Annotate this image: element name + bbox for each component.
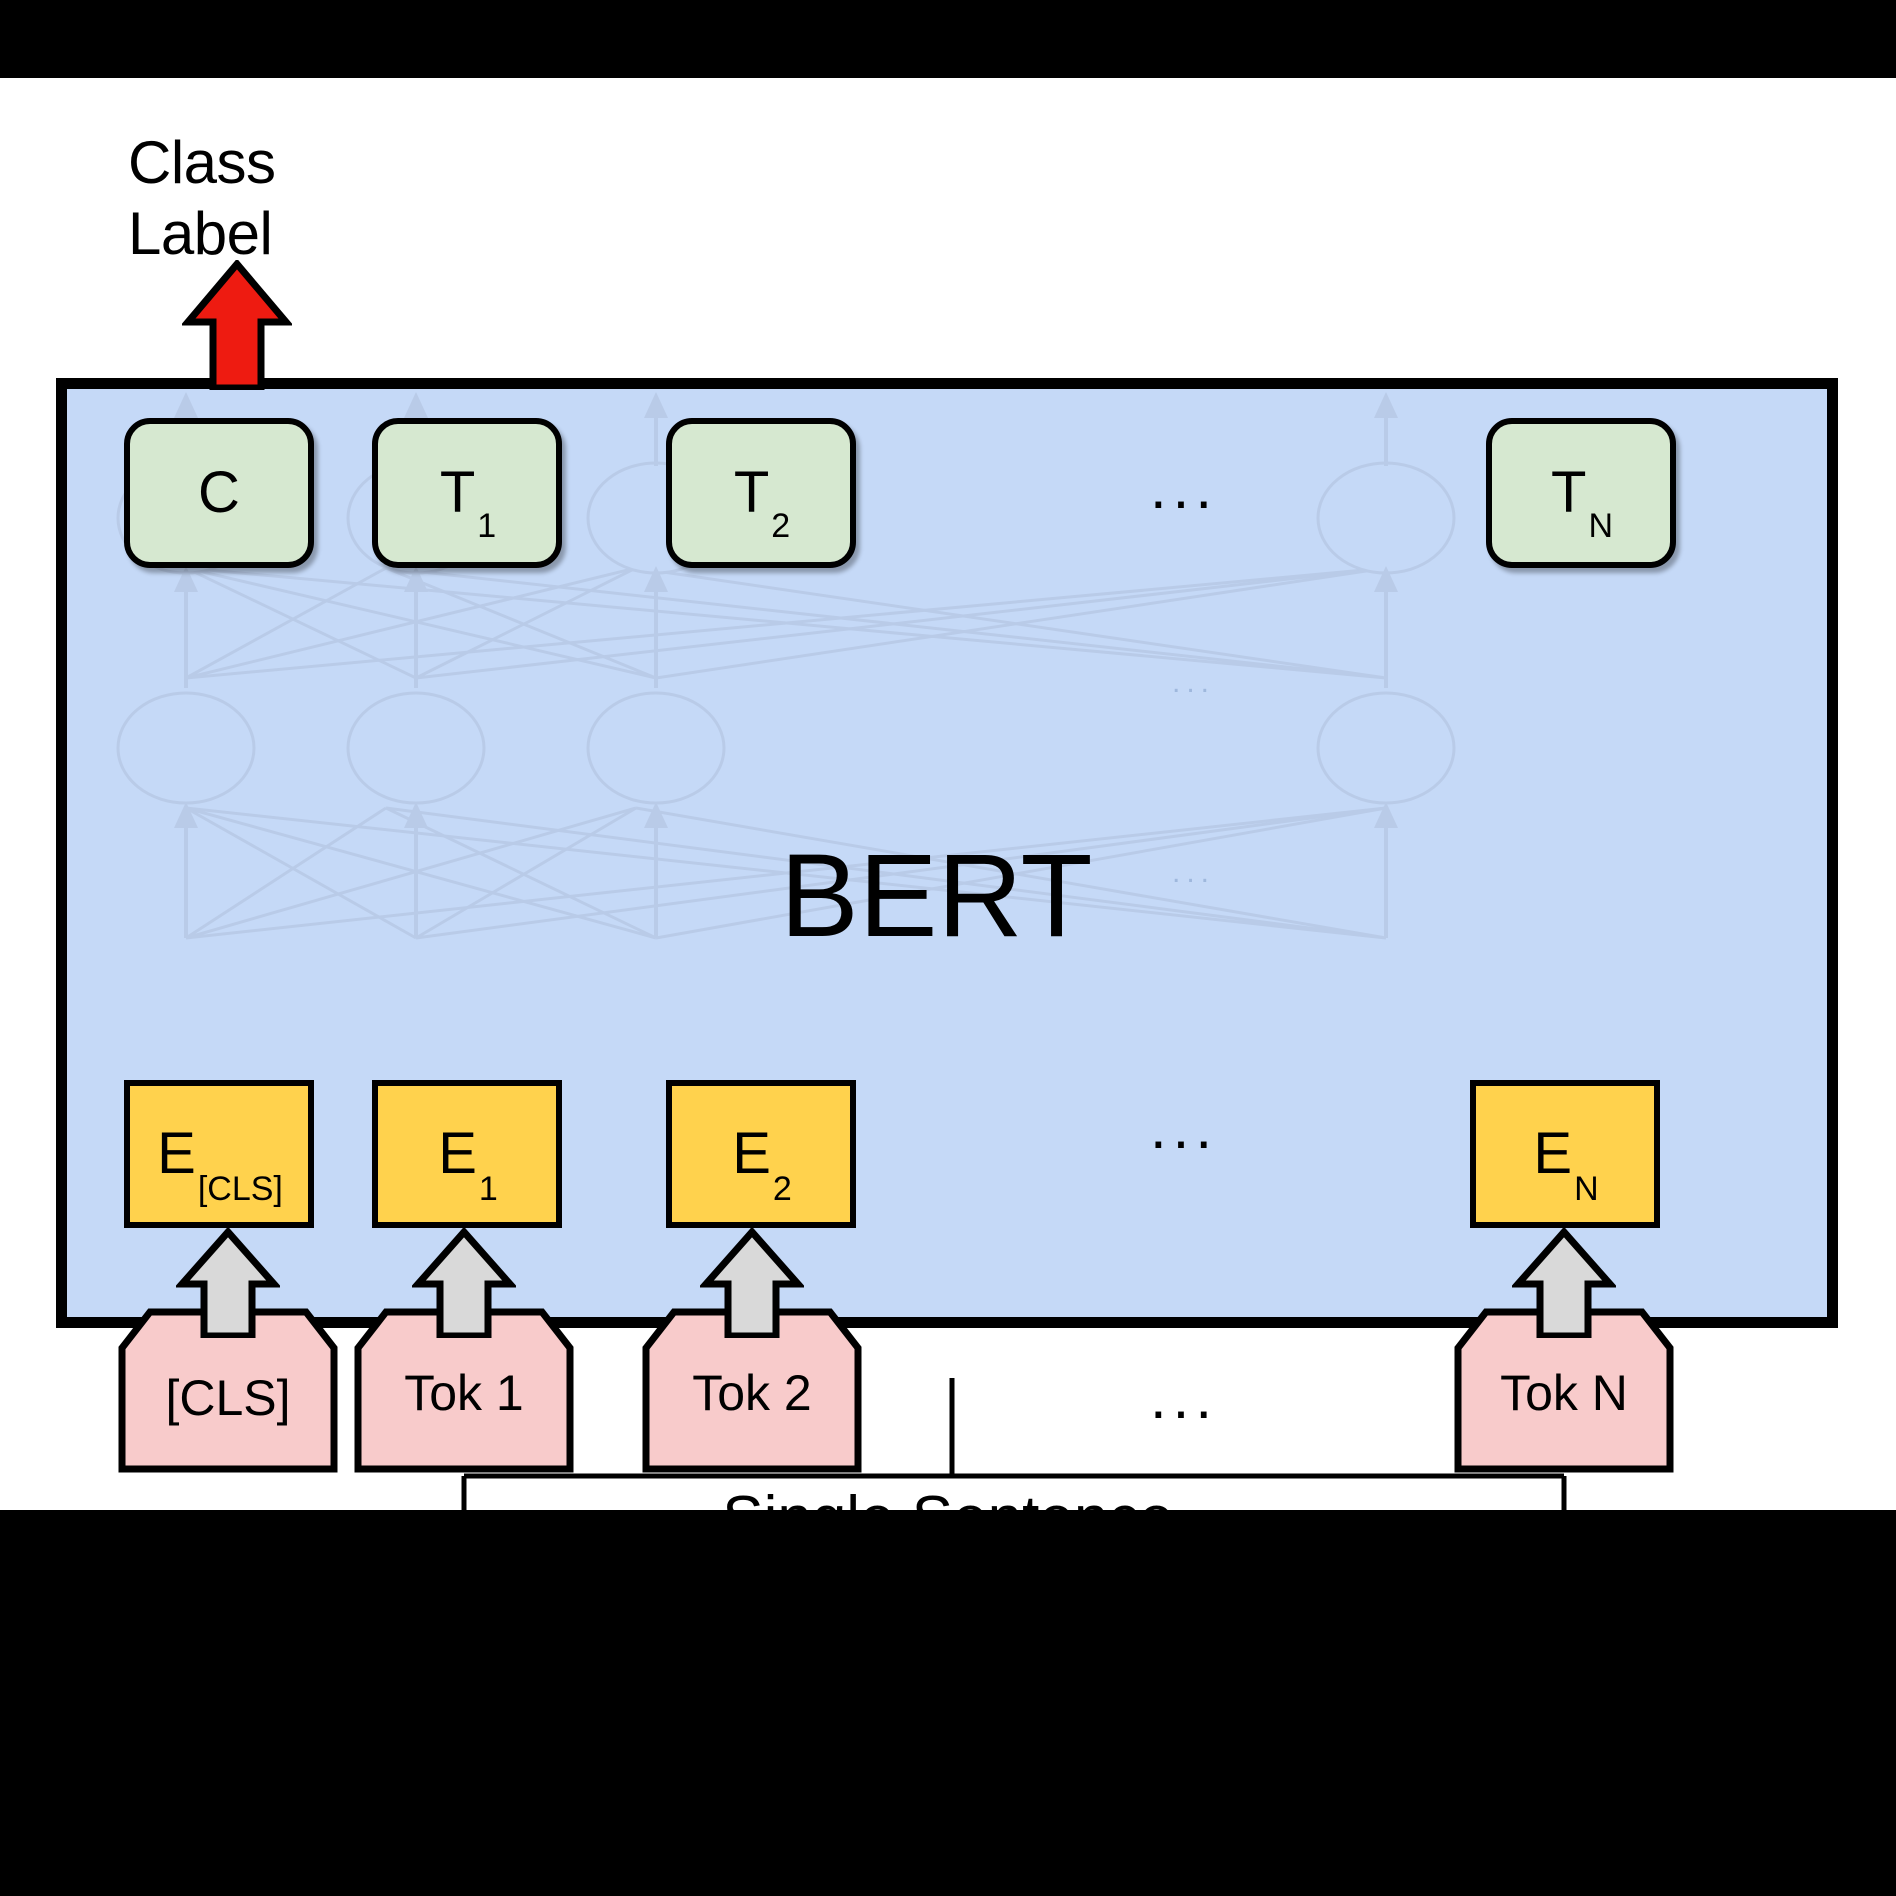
token-label-1: Tok 1 <box>354 1368 574 1418</box>
output-token-tn-label: TN <box>1551 464 1611 522</box>
network-ellipsis-upper: ... <box>1172 668 1215 698</box>
embedding-n[interactable]: EN <box>1470 1080 1660 1228</box>
output-token-c[interactable]: C <box>124 418 314 568</box>
output-token-t1[interactable]: T1 <box>372 418 562 568</box>
embedding-2[interactable]: E2 <box>666 1080 856 1228</box>
embedding-cls-label: E[CLS] <box>157 1125 281 1183</box>
embedding-1-label: E1 <box>438 1125 496 1183</box>
diagram-stage: Class Label <box>0 0 1896 1896</box>
class-label-text: Class Label <box>128 128 276 270</box>
sentence-label: Single Sentence <box>0 1483 1896 1554</box>
output-token-t1-label: T1 <box>440 464 494 522</box>
token-row-ellipsis: ... <box>1150 1368 1218 1428</box>
embedding-row-ellipsis: ... <box>1150 1098 1218 1158</box>
embedding-1[interactable]: E1 <box>372 1080 562 1228</box>
network-ellipsis-lower: ... <box>1172 858 1215 888</box>
embedding-n-label: EN <box>1533 1125 1596 1183</box>
embedding-cls[interactable]: E[CLS] <box>124 1080 314 1228</box>
token-label-2: Tok 2 <box>642 1368 862 1418</box>
token-label-n: Tok N <box>1454 1368 1674 1418</box>
embedding-2-label: E2 <box>732 1125 790 1183</box>
diagram-canvas: Class Label <box>0 78 1896 1510</box>
class-arrow-icon <box>182 260 292 390</box>
bert-model-name: BERT <box>780 828 1093 964</box>
token-label-cls: [CLS] <box>118 1373 338 1423</box>
output-row-ellipsis: ... <box>1150 458 1218 518</box>
output-token-tn[interactable]: TN <box>1486 418 1676 568</box>
output-token-c-label: C <box>198 464 240 522</box>
output-token-t2[interactable]: T2 <box>666 418 856 568</box>
output-token-t2-label: T2 <box>734 464 788 522</box>
